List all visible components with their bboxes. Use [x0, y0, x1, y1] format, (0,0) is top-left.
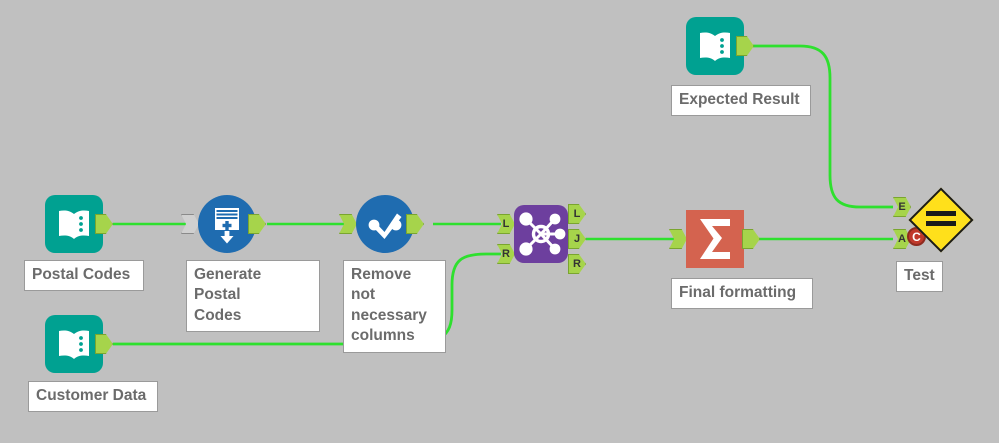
caption-test: Test — [896, 261, 943, 292]
summarize-tool-icon[interactable] — [686, 210, 744, 268]
test-input-expected-anchor[interactable]: E — [893, 197, 911, 217]
generate-rows-output-anchor[interactable] — [248, 214, 266, 234]
join-output-join-anchor[interactable]: J — [568, 229, 586, 249]
summarize-output-anchor[interactable] — [742, 229, 760, 249]
generate-rows-input-anchor[interactable] — [181, 214, 199, 234]
input-data-icon[interactable] — [45, 315, 103, 373]
select-tool-icon[interactable] — [356, 195, 414, 253]
join-output-left-anchor[interactable]: L — [568, 204, 586, 224]
input-data-icon[interactable] — [686, 17, 744, 75]
expected-result-output-anchor[interactable] — [736, 36, 754, 56]
equals-icon — [926, 211, 956, 229]
join-input-right-anchor[interactable]: R — [497, 244, 515, 264]
input-data-icon[interactable] — [45, 195, 103, 253]
select-tool-output-anchor[interactable] — [406, 214, 424, 234]
generate-rows-icon[interactable] — [198, 195, 256, 253]
postal-codes-output-anchor[interactable] — [95, 214, 113, 234]
customer-data-output-anchor[interactable] — [95, 334, 113, 354]
connection-wires — [0, 0, 999, 443]
join-output-right-anchor[interactable]: R — [568, 254, 586, 274]
select-tool-input-anchor[interactable] — [339, 214, 357, 234]
test-tool-icon[interactable] — [915, 194, 967, 246]
caption-postal-codes: Postal Codes — [24, 260, 144, 291]
summarize-input-anchor[interactable] — [669, 229, 687, 249]
workflow-canvas[interactable]: Postal Codes Generate Postal Codes — [0, 0, 999, 443]
caption-customer-data: Customer Data — [28, 381, 158, 412]
caption-expected-result: Expected Result — [671, 85, 811, 116]
caption-remove-not-necessary-columns: Remove not necessary columns — [343, 260, 446, 353]
join-tool-icon[interactable] — [514, 205, 568, 263]
caption-generate-postal-codes: Generate Postal Codes — [186, 260, 320, 332]
join-input-left-anchor[interactable]: L — [497, 214, 515, 234]
caption-final-formatting: Final formatting — [671, 278, 813, 309]
